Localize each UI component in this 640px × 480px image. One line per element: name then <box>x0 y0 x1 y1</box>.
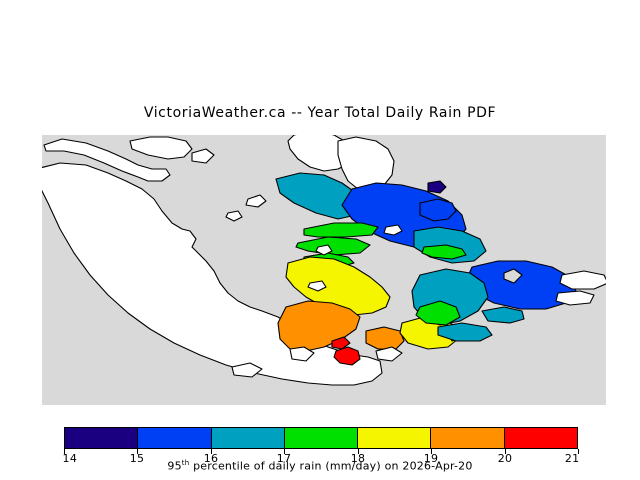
colorbar-segment-15-16[interactable] <box>138 428 211 448</box>
caption-prefix: 95 <box>167 460 181 473</box>
colorbar-segment-18-19[interactable] <box>358 428 431 448</box>
map-panel <box>42 135 606 405</box>
far-east-white-tip <box>560 271 606 289</box>
caption-rest: percentile of daily rain (mm/day) on 202… <box>189 460 472 473</box>
colorbar-caption: 95th percentile of daily rain (mm/day) o… <box>0 459 640 473</box>
colorbar-segment-16-17[interactable] <box>212 428 285 448</box>
colorbar-segment-17-18[interactable] <box>285 428 358 448</box>
southeast-small-island <box>366 327 404 349</box>
page-title: VictoriaWeather.ca -- Year Total Daily R… <box>0 105 640 121</box>
colorbar[interactable] <box>64 427 578 449</box>
map-svg <box>42 135 606 405</box>
colorbar-segment-19-20[interactable] <box>431 428 504 448</box>
far-east-white-tip-2 <box>556 291 594 305</box>
colorbar-segment-20-21[interactable] <box>505 428 577 448</box>
colorbar-segment-14-15[interactable] <box>65 428 138 448</box>
weather-map-figure: VictoriaWeather.ca -- Year Total Daily R… <box>0 0 640 480</box>
